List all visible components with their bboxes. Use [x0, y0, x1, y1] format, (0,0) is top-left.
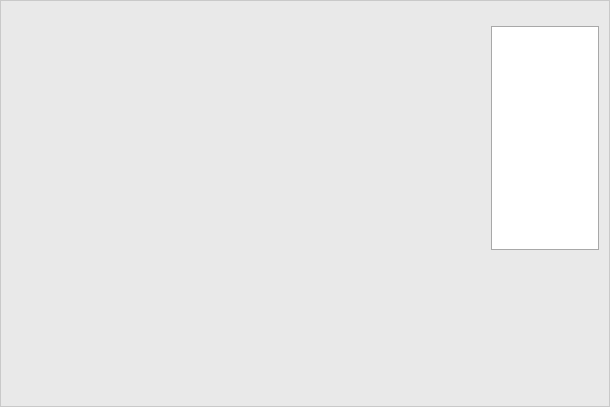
goodness-of-fit-panel — [491, 26, 599, 250]
probability-plot-window — [0, 0, 610, 407]
